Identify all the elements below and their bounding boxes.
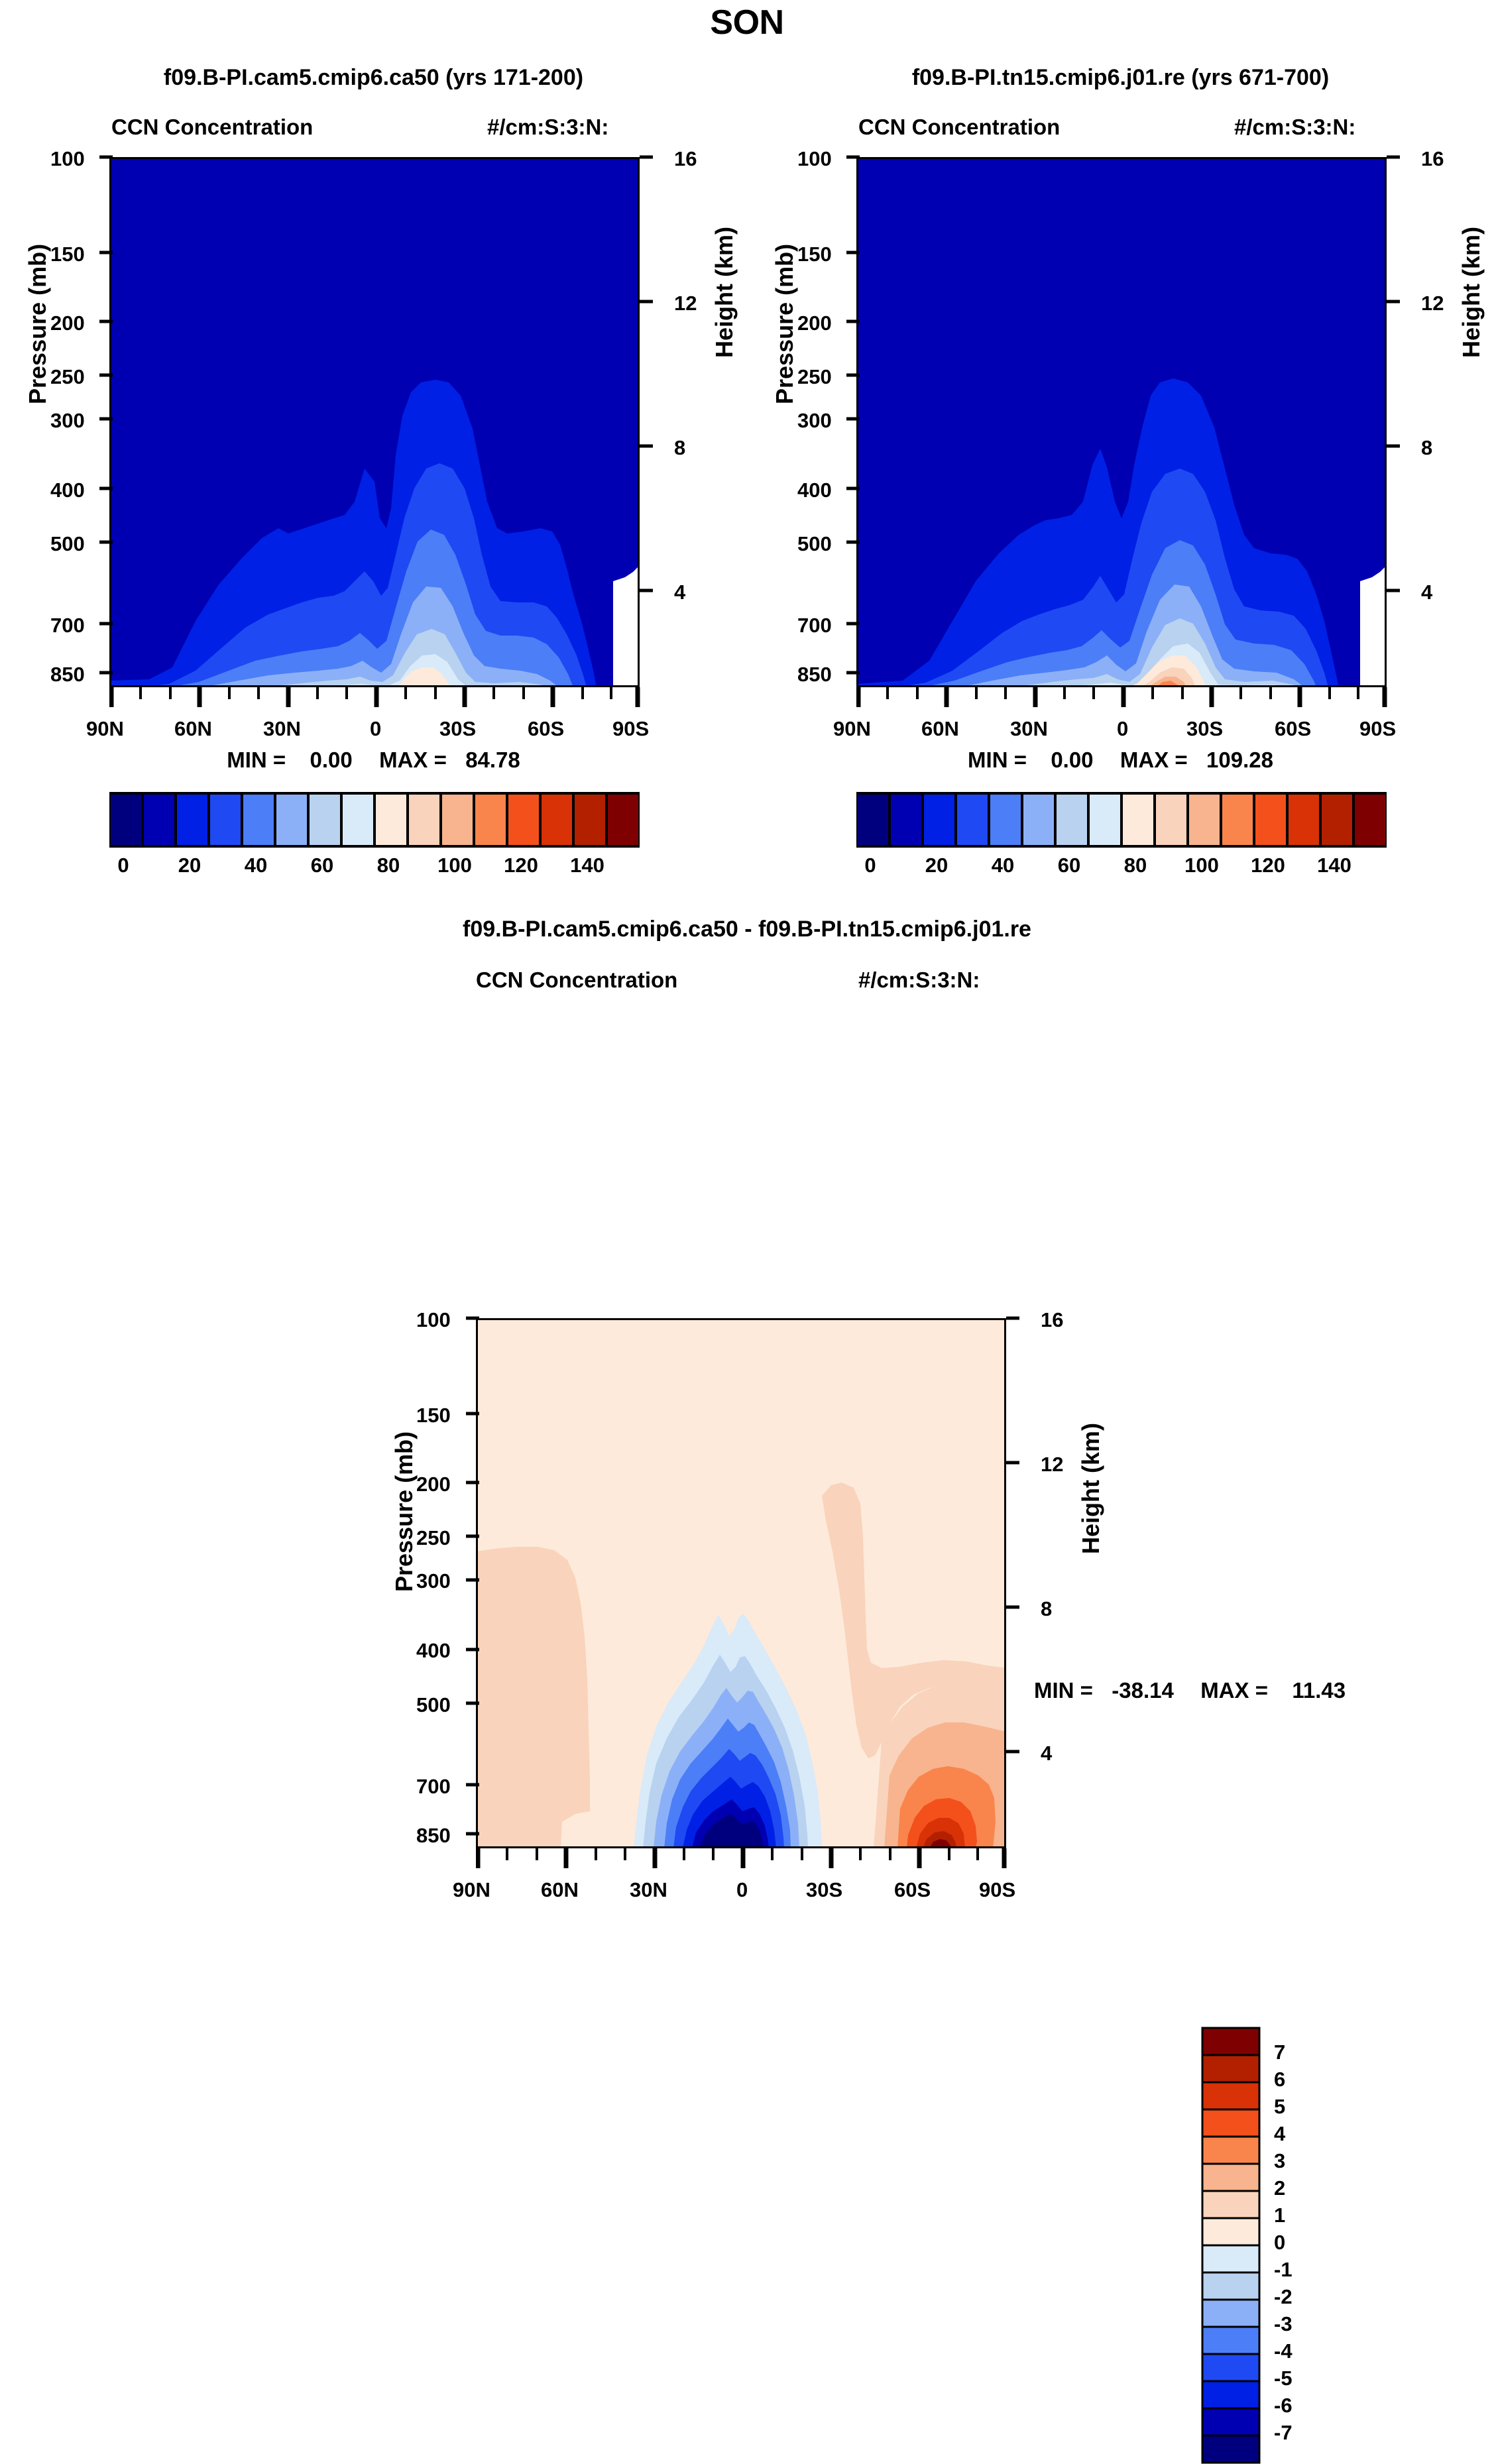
colorbar-top-right (856, 791, 1387, 849)
y-tick-250-right: 250 (797, 365, 832, 389)
colorbar-swatch (1202, 2408, 1259, 2436)
colorbar-swatch (275, 793, 308, 846)
colorbar-swatch (1320, 793, 1353, 846)
x-axis-ticks-top-right (856, 687, 1391, 714)
colorbar-swatch (856, 793, 890, 846)
y-tick-700-left: 700 (50, 614, 85, 638)
colorbar-swatch (1202, 2137, 1259, 2164)
x-axis-ticks-bottom-diff (476, 1848, 1010, 1875)
cbar-tick-140-left: 140 (561, 854, 614, 877)
colorbar-swatch (1202, 2436, 1259, 2463)
y-tick-700-diff: 700 (416, 1775, 451, 1799)
colorbar-tick-label: 1 (1274, 2204, 1285, 2227)
colorbar-bottom-diff (1201, 2027, 1261, 2464)
colorbar-swatch (1202, 2354, 1259, 2381)
colorbar-swatch (209, 793, 242, 846)
y-tick-300-diff: 300 (416, 1569, 451, 1593)
colorbar-swatch (507, 793, 540, 846)
min-label-left: MIN = (227, 748, 286, 772)
y-tick-100-right: 100 (797, 147, 832, 171)
colorbar-tick-label: -4 (1274, 2339, 1293, 2363)
cbar-tick-80-right: 80 (1109, 854, 1162, 877)
colorbar-tick-label: 6 (1274, 2068, 1285, 2092)
minmax-top-left: MIN = 0.00 MAX = 84.78 (0, 748, 747, 773)
cbar-tick-60-left: 60 (296, 854, 349, 877)
colorbar-tick-label: 5 (1274, 2095, 1285, 2119)
y-tick-250-diff: 250 (416, 1526, 451, 1550)
max-label-right: MAX = (1120, 748, 1188, 772)
min-value-diff: -38.14 (1112, 1678, 1174, 1703)
y-tick-500-diff: 500 (416, 1693, 451, 1717)
axis-ticks-top-left (86, 154, 749, 697)
max-label-diff: MAX = (1200, 1678, 1268, 1703)
max-value-right: 109.28 (1206, 748, 1273, 772)
x-tick-30S-diff: 30S (806, 1878, 842, 1902)
colorbar-swatch (606, 793, 640, 846)
colorbar-swatch (1202, 2055, 1259, 2082)
colorbar-swatch (1202, 2191, 1259, 2218)
y-tick-150-diff: 150 (416, 1404, 451, 1428)
y-tick-250-left: 250 (50, 365, 85, 389)
colorbar-swatch (1202, 2164, 1259, 2191)
x-tick-30N-diff: 30N (630, 1878, 667, 1902)
variable-label-left: CCN Concentration (111, 115, 313, 140)
colorbar-swatch (1202, 2327, 1259, 2354)
colorbar-swatch (1155, 793, 1188, 846)
colorbar-swatch (1202, 2245, 1259, 2272)
x-tick-90S-left: 90S (612, 717, 649, 741)
colorbar-swatch (374, 793, 408, 846)
colorbar-swatch (109, 793, 143, 846)
y-tick-850-left: 850 (50, 663, 85, 687)
cbar-tick-0-left: 0 (97, 854, 150, 877)
panel-bottom-diff-title: f09.B-PI.cam5.cmip6.ca50 - f09.B-PI.tn15… (0, 917, 1494, 942)
colorbar-swatch (242, 793, 275, 846)
colorbar-swatch (1055, 793, 1088, 846)
y-tick-500-right: 500 (797, 532, 832, 556)
cbar-tick-40-left: 40 (229, 854, 282, 877)
colorbar-swatch (1254, 793, 1287, 846)
cbar-tick-140-right: 140 (1308, 854, 1361, 877)
y-tick-850-diff: 850 (416, 1824, 451, 1848)
y-tick-200-diff: 200 (416, 1473, 451, 1496)
cbar-tick-100-left: 100 (428, 854, 481, 877)
cbar-tick-120-left: 120 (494, 854, 547, 877)
colorbar-swatch (474, 793, 507, 846)
y-tick-100-diff: 100 (416, 1308, 451, 1332)
colorbar-tick-label: -2 (1274, 2285, 1293, 2309)
cbar-tick-20-left: 20 (163, 854, 216, 877)
colorbar-swatch (176, 793, 209, 846)
x-tick-30N-left: 30N (263, 717, 301, 741)
colorbar-tick-label: 7 (1274, 2041, 1285, 2064)
cbar-tick-80-left: 80 (362, 854, 415, 877)
colorbar-swatch (573, 793, 606, 846)
colorbar-swatch (540, 793, 573, 846)
y-axis-title-diff: Pressure (mb) (390, 1431, 418, 1592)
x-tick-60N-diff: 60N (541, 1878, 579, 1902)
cbar-tick-20-right: 20 (910, 854, 963, 877)
y-tick-500-left: 500 (50, 532, 85, 556)
min-label-right: MIN = (968, 748, 1027, 772)
y-tick-300-right: 300 (797, 409, 832, 433)
panel-top-left: f09.B-PI.cam5.cmip6.ca50 (yrs 171-200) C… (0, 0, 747, 888)
y-axis-title-left: Pressure (mb) (24, 244, 52, 404)
colorbar-swatch (1202, 2028, 1259, 2055)
colorbar-swatch (1202, 2381, 1259, 2408)
x-axis-ticks-top-left (109, 687, 644, 714)
cbar-tick-120-right: 120 (1241, 854, 1294, 877)
x-tick-90N-right: 90N (833, 717, 871, 741)
y-tick-400-diff: 400 (416, 1639, 451, 1663)
colorbar-swatch (923, 793, 956, 846)
y-axis-title-right: Pressure (mb) (771, 244, 799, 404)
units-label-diff: #/cm:S:3:N: (858, 968, 980, 993)
colorbar-swatch (1202, 2272, 1259, 2300)
panel-bottom-diff: f09.B-PI.cam5.cmip6.ca50 - f09.B-PI.tn15… (0, 888, 1494, 1589)
axis-ticks-top-right (833, 154, 1494, 697)
colorbar-swatch (1287, 793, 1320, 846)
min-value-left: 0.00 (310, 748, 352, 772)
y-tick-400-right: 400 (797, 478, 832, 502)
panel-top-right-title: f09.B-PI.tn15.cmip6.j01.re (yrs 671-700) (747, 65, 1494, 91)
colorbar-swatch (956, 793, 989, 846)
x-tick-30S-left: 30S (439, 717, 476, 741)
colorbar-swatch (1202, 2218, 1259, 2245)
colorbar-swatch (1202, 2109, 1259, 2137)
y-tick-200-right: 200 (797, 311, 832, 335)
figure-root: SON f09.B-PI.cam5.cmip6.ca50 (yrs 171-20… (0, 0, 1494, 1589)
max-label-left: MAX = (379, 748, 447, 772)
colorbar-swatch (341, 793, 374, 846)
colorbar-tick-label: 4 (1274, 2122, 1285, 2146)
variable-label-right: CCN Concentration (858, 115, 1060, 140)
colorbar-tick-label: 2 (1274, 2176, 1285, 2200)
y-tick-400-left: 400 (50, 478, 85, 502)
x-tick-30S-right: 30S (1186, 717, 1223, 741)
minmax-bottom-diff: MIN = -38.14 MAX = 11.43 (1034, 1678, 1458, 1703)
x-tick-90S-diff: 90S (979, 1878, 1015, 1902)
colorbar-tick-label: 3 (1274, 2149, 1285, 2173)
x-tick-90N-left: 90N (86, 717, 124, 741)
y-tick-700-right: 700 (797, 614, 832, 638)
min-value-right: 0.00 (1051, 748, 1093, 772)
y-tick-150-right: 150 (797, 243, 832, 266)
colorbar-swatch (1121, 793, 1155, 846)
units-label-left: #/cm:S:3:N: (487, 115, 608, 140)
colorbar-tick-label: -1 (1274, 2258, 1293, 2282)
variable-label-diff: CCN Concentration (476, 968, 677, 993)
minmax-top-right: MIN = 0.00 MAX = 109.28 (747, 748, 1494, 773)
x-tick-90S-right: 90S (1359, 717, 1396, 741)
x-tick-60N-right: 60N (921, 717, 959, 741)
colorbar-tick-label: -6 (1274, 2394, 1293, 2418)
max-value-diff: 11.43 (1292, 1678, 1346, 1703)
colorbar-top-left (109, 791, 640, 849)
cbar-tick-100-right: 100 (1175, 854, 1228, 877)
cbar-tick-60-right: 60 (1043, 854, 1096, 877)
panel-top-right: f09.B-PI.tn15.cmip6.j01.re (yrs 671-700)… (747, 0, 1494, 888)
x-tick-0-right: 0 (1117, 717, 1128, 741)
colorbar-tick-label: -5 (1274, 2367, 1293, 2390)
x-tick-30N-right: 30N (1010, 717, 1048, 741)
y-tick-100-left: 100 (50, 147, 85, 171)
cbar-tick-0-right: 0 (844, 854, 897, 877)
colorbar-swatch (1202, 2300, 1259, 2327)
colorbar-swatch (408, 793, 441, 846)
units-label-right: #/cm:S:3:N: (1234, 115, 1355, 140)
colorbar-swatch (308, 793, 341, 846)
colorbar-tick-label: -3 (1274, 2312, 1293, 2336)
x-tick-0-diff: 0 (736, 1878, 748, 1902)
colorbar-swatch (989, 793, 1022, 846)
colorbar-tick-label: -7 (1274, 2421, 1293, 2445)
axis-ticks-bottom-diff (453, 1315, 1116, 1858)
y-tick-300-left: 300 (50, 409, 85, 433)
x-tick-60S-right: 60S (1275, 717, 1311, 741)
colorbar-swatch (441, 793, 474, 846)
cbar-tick-40-right: 40 (976, 854, 1029, 877)
colorbar-swatch (1188, 793, 1221, 846)
y-tick-850-right: 850 (797, 663, 832, 687)
y-tick-200-left: 200 (50, 311, 85, 335)
x-tick-90N-diff: 90N (453, 1878, 490, 1902)
colorbar-swatch (1088, 793, 1121, 846)
x-tick-60S-left: 60S (528, 717, 564, 741)
x-tick-0-left: 0 (370, 717, 381, 741)
y-tick-150-left: 150 (50, 243, 85, 266)
colorbar-swatch (1202, 2082, 1259, 2109)
colorbar-swatch (1221, 793, 1254, 846)
min-label-diff: MIN = (1034, 1678, 1093, 1703)
colorbar-swatch (890, 793, 923, 846)
colorbar-swatch (143, 793, 176, 846)
colorbar-tick-label: 0 (1274, 2231, 1285, 2255)
x-tick-60S-diff: 60S (894, 1878, 931, 1902)
x-tick-60N-left: 60N (174, 717, 212, 741)
colorbar-swatch (1022, 793, 1055, 846)
max-value-left: 84.78 (465, 748, 520, 772)
colorbar-swatch (1353, 793, 1387, 846)
panel-top-left-title: f09.B-PI.cam5.cmip6.ca50 (yrs 171-200) (0, 65, 747, 91)
